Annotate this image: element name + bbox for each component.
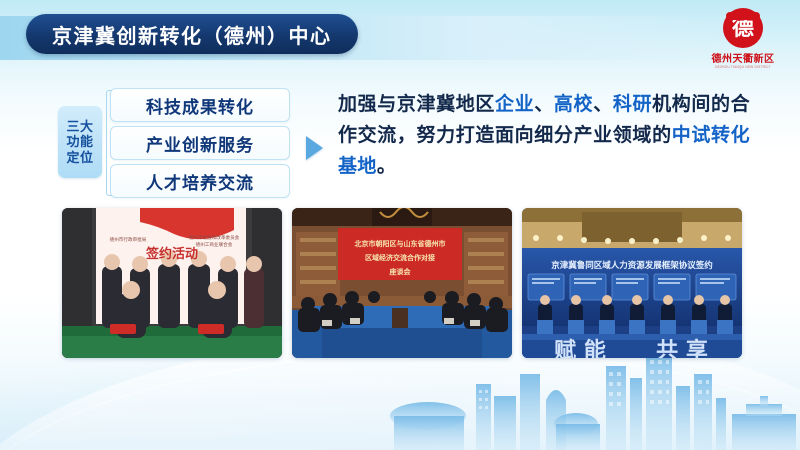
svg-text:区域经济交流合作对接: 区域经济交流合作对接 bbox=[365, 253, 435, 262]
body-seg: 、 bbox=[593, 94, 613, 115]
function-item: 科技成果转化 bbox=[110, 88, 290, 122]
function-item-label: 人才培养交流 bbox=[146, 169, 254, 194]
signing-ceremony-photo: 签约活动 德州市行政审批局 德州市发展和改革委员会 德州工商业联合会 bbox=[62, 208, 282, 358]
right-arrow-icon bbox=[306, 136, 323, 160]
svg-text:北京市朝阳区与山东省德州市: 北京市朝阳区与山东省德州市 bbox=[355, 239, 446, 248]
photo-strip: 签约活动 德州市行政审批局 德州市发展和改革委员会 德州工商业联合会 bbox=[62, 208, 744, 358]
function-item: 人才培养交流 bbox=[110, 164, 290, 198]
body-seg: 、 bbox=[534, 94, 554, 115]
svg-text:德州市行政审批局: 德州市行政审批局 bbox=[110, 236, 147, 243]
body-seg-highlight: 高校 bbox=[554, 94, 593, 115]
body-seg-highlight: 企业 bbox=[495, 94, 534, 115]
svg-text:座谈会: 座谈会 bbox=[390, 267, 412, 276]
svg-text:赋 能: 赋 能 bbox=[554, 338, 606, 358]
slide-root: 京津冀创新转化（德州）中心 德 德州天衢新区 DEZHOU TIANQU NEW… bbox=[0, 0, 800, 450]
roundtable-meeting-photo: 北京市朝阳区与山东省德州市 区域经济交流合作对接 座谈会 bbox=[292, 208, 512, 358]
function-item: 产业创新服务 bbox=[110, 126, 290, 160]
body-seg: 加强与京津冀地区 bbox=[338, 94, 495, 115]
badge-line-1: 三大 bbox=[66, 119, 93, 134]
function-group-badge: 三大 功能 定位 bbox=[58, 106, 102, 178]
seal-icon: 德 bbox=[723, 8, 763, 48]
page-title-text: 京津冀创新转化（德州）中心 bbox=[52, 20, 332, 49]
svg-text:签约活动: 签约活动 bbox=[145, 246, 198, 262]
body-seg: 。 bbox=[377, 156, 396, 177]
function-item-label: 产业创新服务 bbox=[146, 131, 254, 156]
logo-name: 德州天衢新区 bbox=[702, 50, 784, 65]
badge-line-3: 定位 bbox=[66, 150, 93, 165]
function-item-list: 科技成果转化 产业创新服务 人才培养交流 bbox=[110, 88, 290, 202]
seal-glyph: 德 bbox=[732, 17, 754, 39]
body-paragraph: 加强与京津冀地区企业、高校、科研机构间的合作交流，努力打造面向细分产业领域的中试… bbox=[338, 90, 750, 182]
svg-text:德州工商业联合会: 德州工商业联合会 bbox=[196, 241, 233, 248]
stage-signing-photo: 京津冀鲁同区域人力资源发展框架协议签约 bbox=[522, 208, 742, 358]
logo-subtitle: DEZHOU TIANQU NEW DISTRICT bbox=[704, 65, 782, 69]
svg-text:共 享: 共 享 bbox=[656, 338, 708, 358]
body-seg-highlight: 科研 bbox=[613, 94, 652, 115]
page-title: 京津冀创新转化（德州）中心 bbox=[26, 14, 358, 54]
function-item-label: 科技成果转化 bbox=[146, 93, 254, 118]
badge-line-2: 功能 bbox=[66, 134, 93, 149]
function-positioning-group: 三大 功能 定位 科技成果转化 产业创新服务 人才培养交流 bbox=[58, 88, 290, 196]
organization-logo: 德 德州天衢新区 DEZHOU TIANQU NEW DISTRICT bbox=[702, 8, 784, 70]
svg-text:德州市发展和改革委员会: 德州市发展和改革委员会 bbox=[189, 234, 240, 241]
svg-text:京津冀鲁同区域人力资源发展框架协议签约: 京津冀鲁同区域人力资源发展框架协议签约 bbox=[551, 260, 713, 271]
